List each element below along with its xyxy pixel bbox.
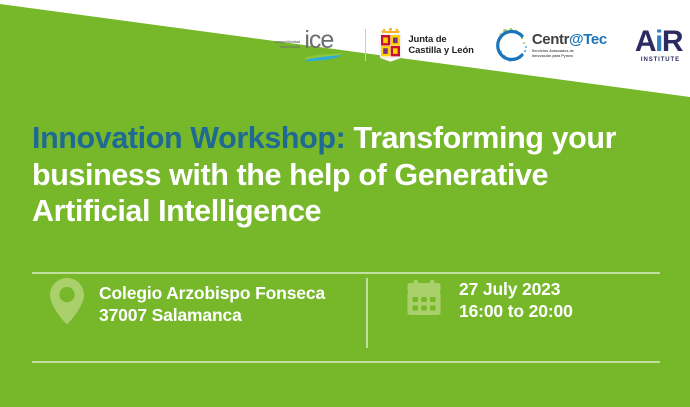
centratec-swirl-icon bbox=[496, 27, 530, 63]
date-line-2: 16:00 to 20:00 bbox=[459, 300, 573, 322]
venue-block: Colegio Arzobispo Fonseca 37007 Salamanc… bbox=[32, 278, 366, 329]
event-details-row: Colegio Arzobispo Fonseca 37007 Salamanc… bbox=[32, 278, 660, 350]
page-title-accent: Innovation Workshop: bbox=[32, 121, 345, 155]
ice-wordmark: ice bbox=[304, 28, 344, 62]
venue-line-1: Colegio Arzobispo Fonseca bbox=[99, 282, 325, 304]
centratec-logo: Centr@Tec Servicios Avanzados de Innovac… bbox=[484, 27, 619, 63]
centratec-word-dark: Centr bbox=[532, 31, 569, 48]
divider-bottom bbox=[32, 361, 660, 363]
partner-logo-row: competitividad empresarial ice bbox=[0, 22, 690, 68]
junta-castilla-leon-logo: Junta de Castilla y León bbox=[377, 28, 484, 62]
air-letter-a: A bbox=[635, 25, 655, 58]
ice-word-text: ice bbox=[304, 28, 344, 53]
divider-top bbox=[32, 272, 660, 274]
air-letter-i: i bbox=[655, 25, 662, 58]
ice-logo: competitividad empresarial ice bbox=[270, 28, 354, 62]
date-text: 27 July 2023 16:00 to 20:00 bbox=[459, 278, 573, 322]
castilla-leon-shield-icon bbox=[377, 28, 404, 62]
centratec-subtitle: Servicios Avanzados de Innovación para P… bbox=[532, 49, 607, 59]
centratec-wordmark: Centr@Tec Servicios Avanzados de Innovac… bbox=[532, 32, 607, 59]
centratec-word-blue: @Tec bbox=[569, 31, 607, 48]
air-letter-r: R bbox=[662, 25, 682, 58]
junta-wordmark: Junta de Castilla y León bbox=[408, 34, 474, 56]
venue-line-2: 37007 Salamanca bbox=[99, 304, 325, 326]
centratec-word: Centr@Tec bbox=[532, 32, 607, 48]
junta-line-2: Castilla y León bbox=[408, 45, 474, 56]
date-block: 27 July 2023 16:00 to 20:00 bbox=[366, 278, 660, 322]
ice-tagline: competitividad empresarial bbox=[270, 40, 300, 49]
date-line-1: 27 July 2023 bbox=[459, 278, 573, 300]
ice-swoosh-icon bbox=[305, 53, 343, 61]
air-subtitle: INSTITUTE bbox=[641, 57, 682, 64]
air-wordmark: AiR bbox=[635, 27, 682, 56]
map-pin-icon bbox=[50, 278, 84, 329]
junta-line-1: Junta de bbox=[408, 34, 474, 45]
page-title: Innovation Workshop: Transforming your b… bbox=[32, 120, 668, 230]
calendar-icon bbox=[406, 280, 442, 321]
logo-separator bbox=[365, 29, 366, 61]
venue-text: Colegio Arzobispo Fonseca 37007 Salamanc… bbox=[99, 282, 325, 326]
centratec-subtitle-line-2: Innovación para Pymes bbox=[532, 54, 607, 59]
air-institute-logo: AiR INSTITUTE bbox=[619, 27, 682, 64]
